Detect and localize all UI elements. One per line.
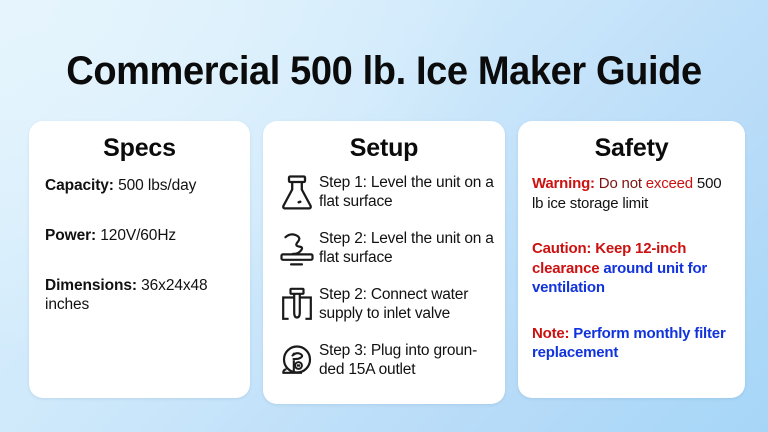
flask-icon: [275, 170, 319, 216]
note-text: Do not: [595, 175, 646, 192]
step-text: Step 1: Level the unit on a flat surface: [319, 170, 495, 211]
spec-label: Dimensions:: [45, 277, 137, 294]
step-text: Step 2: Connect water supply to inlet va…: [319, 282, 495, 323]
outlet-plug-icon: [275, 338, 319, 384]
page-title: Commercial 500 lb. Ice Maker Guide: [19, 48, 749, 94]
status-badge: Warning:: [532, 175, 595, 192]
list-item: Caution: Keep 12-inch clearance around u…: [532, 239, 735, 298]
list-item: Step 3: Plug into groun-ded 15A outlet: [263, 338, 505, 384]
card-specs: Specs Capacity: 500 lbs/day Power: 120V/…: [29, 121, 250, 398]
status-badge: Caution:: [532, 240, 591, 257]
list-item: Step 1: Level the unit on a flat surface: [263, 170, 505, 216]
card-setup: Setup Step 1: Level the unit on a flat s…: [263, 121, 505, 404]
spec-label: Capacity:: [45, 177, 114, 194]
level-stamp-icon: [275, 226, 319, 272]
step-text: Step 3: Plug into groun-ded 15A outlet: [319, 338, 495, 379]
note-emphasis: exceed: [646, 175, 693, 192]
list-item: Step 2: Connect water supply to inlet va…: [263, 282, 505, 328]
card-setup-title: Setup: [263, 134, 505, 162]
status-badge: Note:: [532, 325, 569, 342]
safety-notes-list: Warning: Do not exceed 500 lb ice storag…: [518, 174, 745, 363]
setup-steps-list: Step 1: Level the unit on a flat surface…: [263, 170, 505, 384]
card-safety-title: Safety: [518, 134, 745, 162]
spec-value: 120V/60Hz: [96, 227, 176, 244]
valve-icon: [275, 282, 319, 328]
list-item: Power: 120V/60Hz: [45, 226, 238, 245]
list-item: Step 2: Level the unit on a flat surface: [263, 226, 505, 272]
spec-label: Power:: [45, 227, 96, 244]
specs-list: Capacity: 500 lbs/day Power: 120V/60Hz D…: [29, 176, 250, 314]
list-item: Warning: Do not exceed 500 lb ice storag…: [532, 174, 735, 213]
list-item: Note: Perform monthly filter replacement: [532, 324, 735, 363]
card-safety: Safety Warning: Do not exceed 500 lb ice…: [518, 121, 745, 398]
spec-value: 500 lbs/day: [114, 177, 196, 194]
slide-canvas: Commercial 500 lb. Ice Maker Guide Specs…: [0, 0, 768, 432]
list-item: Capacity: 500 lbs/day: [45, 176, 238, 195]
list-item: Dimensions: 36x24x48 inches: [45, 276, 238, 314]
card-specs-title: Specs: [29, 134, 250, 162]
step-text: Step 2: Level the unit on a flat surface: [319, 226, 495, 267]
